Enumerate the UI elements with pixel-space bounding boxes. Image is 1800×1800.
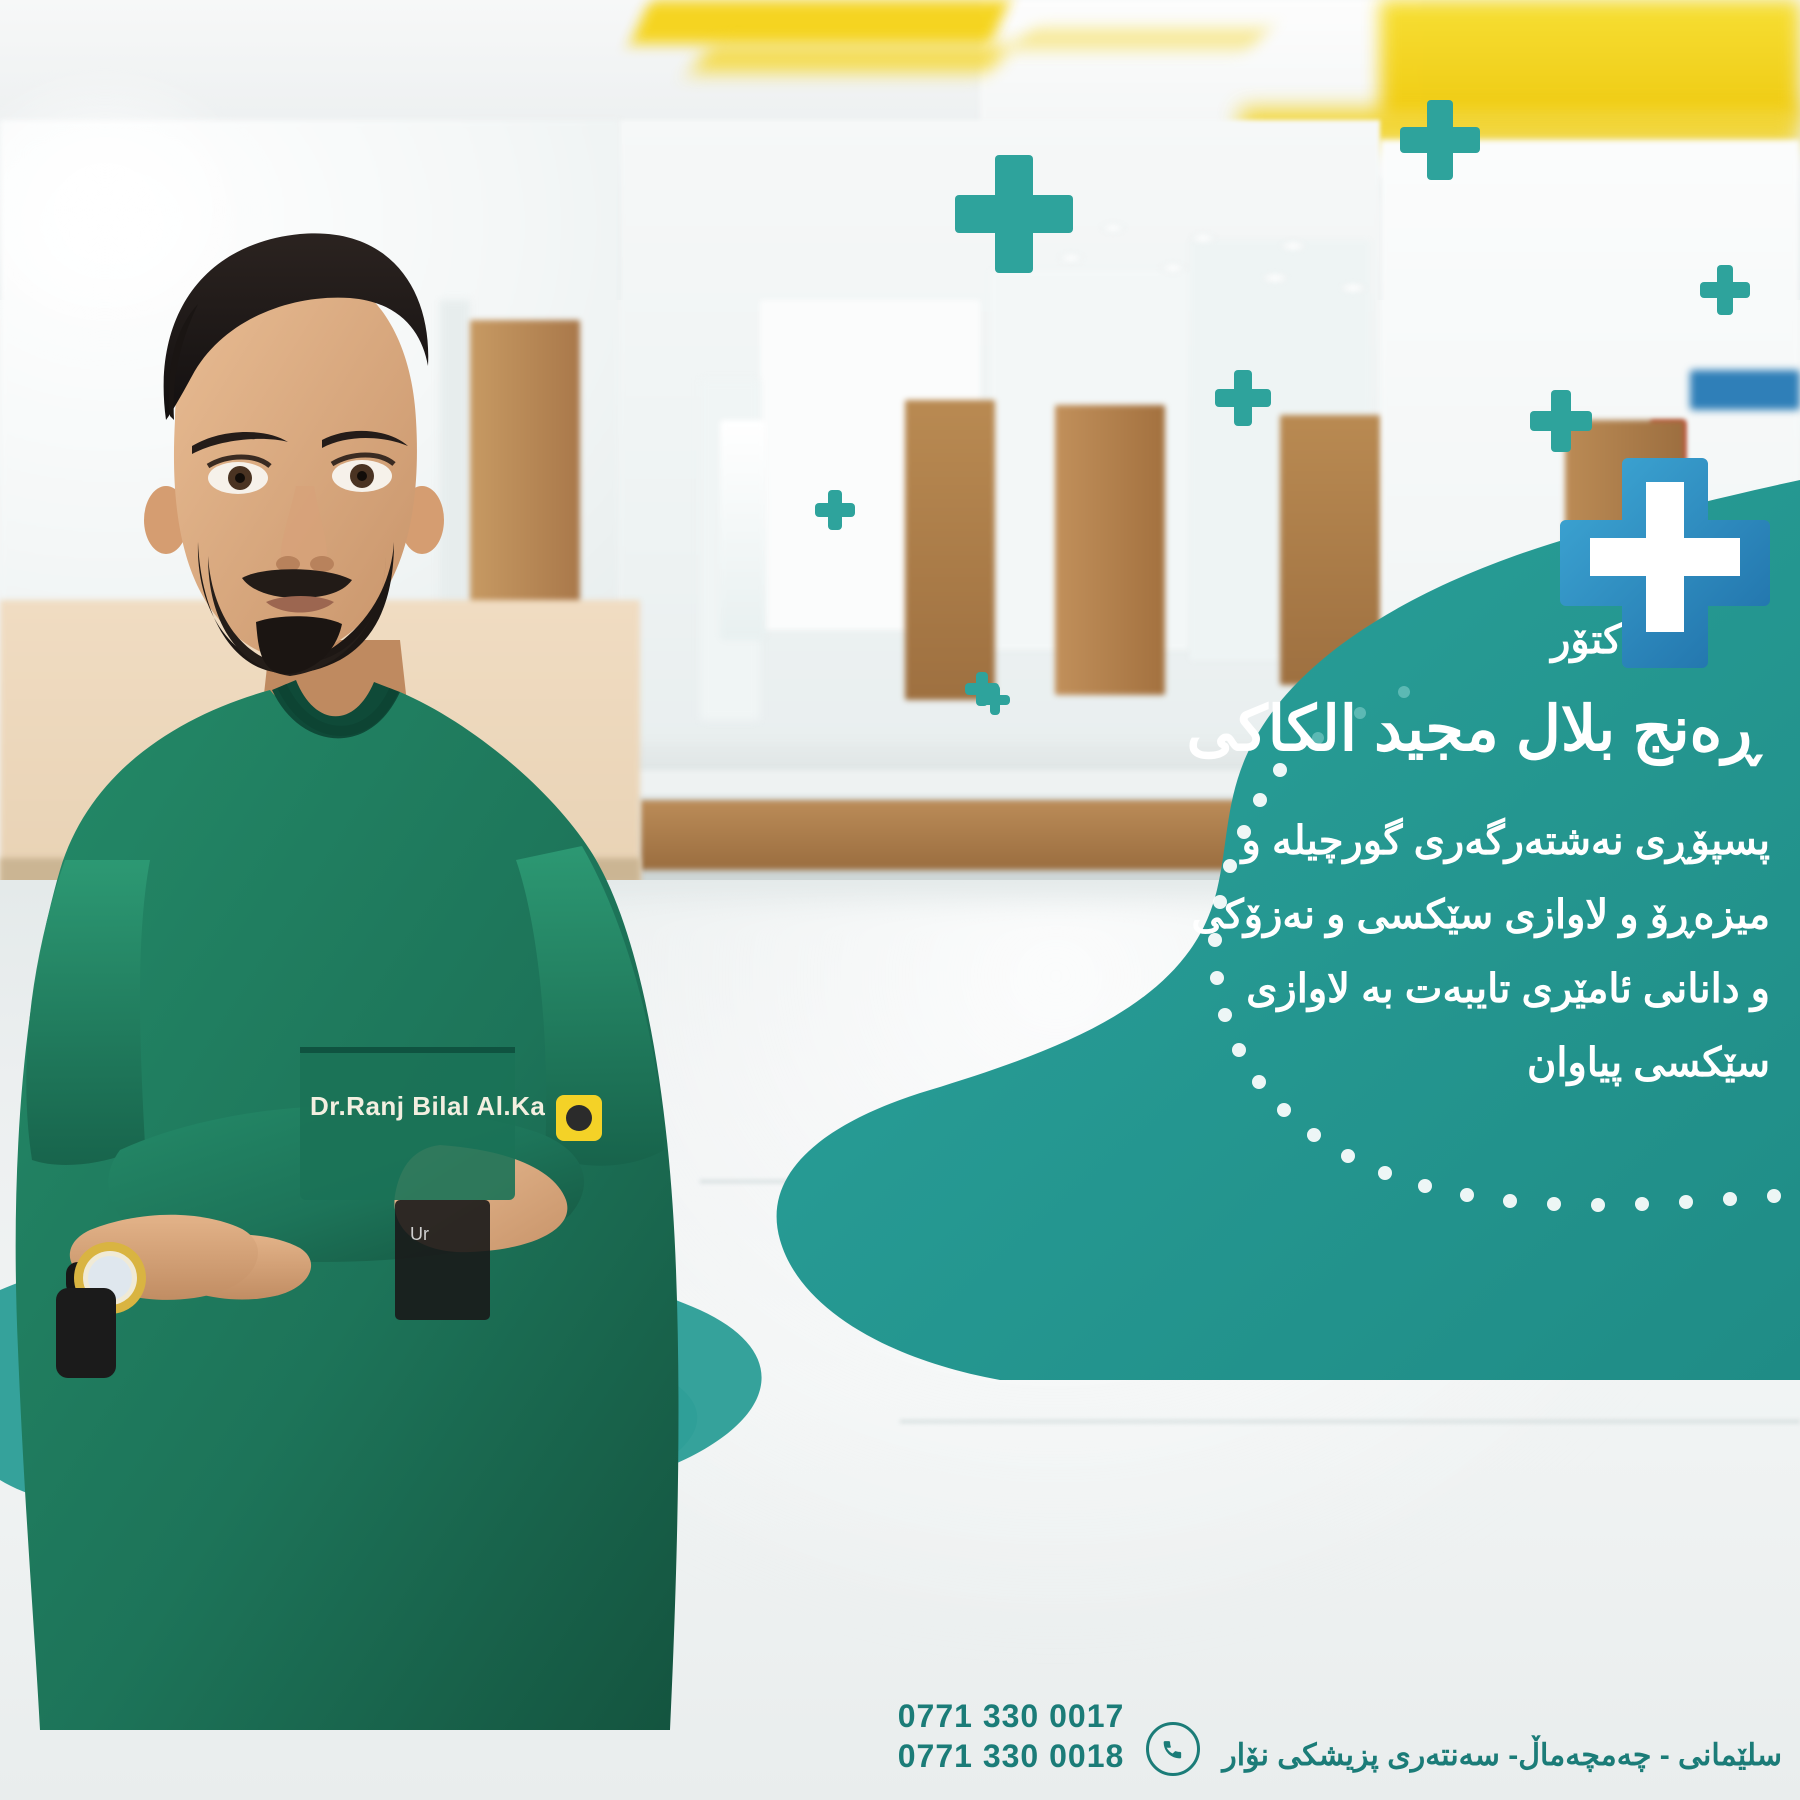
ceiling-spotlight bbox=[1340, 282, 1366, 294]
ceiling-cove-light bbox=[630, 0, 1010, 44]
medical-cross-icon bbox=[1700, 265, 1750, 315]
ceiling-spotlight bbox=[1160, 262, 1186, 274]
ceiling-spotlight bbox=[1190, 232, 1216, 244]
floor-seam bbox=[900, 1420, 1800, 1423]
specialty-line-4: سێکسی پیاوان bbox=[710, 1026, 1770, 1100]
specialty-text: پسپۆڕی نەشتەرگەری گورچیلە و میزەڕۆ و لاو… bbox=[710, 804, 1770, 1100]
title-block: دکتۆر ڕەنج بلال مجید الکاکی پسپۆڕی نەشتە… bbox=[710, 620, 1770, 1100]
doctor-label: دکتۆر bbox=[710, 620, 1640, 660]
medical-cross-icon bbox=[1530, 390, 1592, 452]
medical-cross-icon bbox=[955, 155, 1073, 273]
phone-icon bbox=[1146, 1722, 1200, 1776]
svg-text:Ur: Ur bbox=[410, 1224, 429, 1244]
ceiling-spotlight bbox=[1100, 222, 1126, 234]
ceiling-cove-light bbox=[1014, 30, 1267, 48]
wall-sign bbox=[1690, 370, 1800, 410]
medical-cross-icon bbox=[1215, 370, 1271, 426]
specialty-line-2: میزەڕۆ و لاوازی سێکسی و نەزۆکی bbox=[710, 878, 1770, 952]
doctor-name: ڕەنج بلال مجید الکاکی bbox=[710, 696, 1760, 764]
phone-number-2[interactable]: 0771 330 0018 bbox=[898, 1736, 1125, 1776]
specialty-line-1: پسپۆڕی نەشتەرگەری گورچیلە و bbox=[710, 804, 1770, 878]
specialty-line-3: و دانانی ئامێری تایبەت بە لاوازی bbox=[710, 952, 1770, 1026]
footer-bar: 0771 330 0017 0771 330 0018 سلێمانی - چە… bbox=[0, 1650, 1800, 1800]
phone-number-1[interactable]: 0771 330 0017 bbox=[898, 1696, 1125, 1736]
phone-numbers[interactable]: 0771 330 0017 0771 330 0018 bbox=[898, 1696, 1125, 1778]
doctor-portrait: Dr.Ranj Bilal Al.Ka Ur bbox=[0, 170, 830, 1800]
phone-glyph bbox=[1159, 1735, 1187, 1763]
svg-text:Dr.Ranj Bilal Al.Ka: Dr.Ranj Bilal Al.Ka bbox=[310, 1091, 545, 1121]
poster-canvas: دکتۆر ڕەنج بلال مجید الکاکی پسپۆڕی نەشتە… bbox=[0, 0, 1800, 1800]
medical-cross-badge-icon bbox=[1550, 450, 1780, 680]
clinic-address: سلێمانی - چەمچەماڵ- سەنتەری پزیشکی نۆار bbox=[1222, 1738, 1782, 1778]
ceiling-spotlight bbox=[1262, 272, 1288, 284]
ceiling-cove-light bbox=[692, 46, 1007, 72]
ceiling-spotlight bbox=[1280, 240, 1306, 252]
medical-cross-icon bbox=[1400, 100, 1480, 180]
